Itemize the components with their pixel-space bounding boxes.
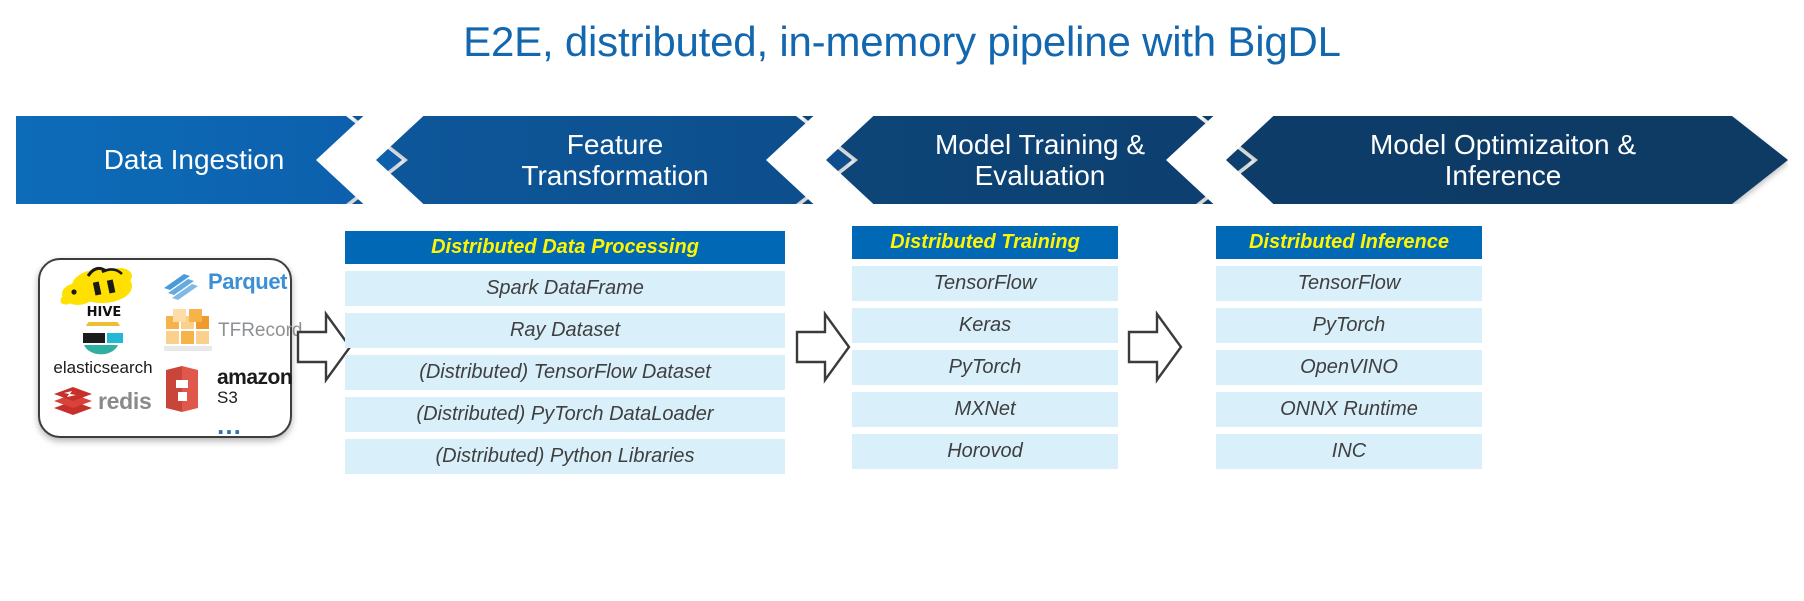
tfrecord-logo-label: TFRecord xyxy=(218,320,302,342)
hive-logo-label: HIVE xyxy=(87,305,122,320)
elasticsearch-logo-label: elasticsearch xyxy=(48,358,158,378)
parquet-logo: Parquet xyxy=(160,268,286,302)
stack-row[interactable]: (Distributed) Python Libraries xyxy=(345,439,785,474)
stack-row[interactable]: TensorFlow xyxy=(852,266,1118,301)
stack-row[interactable]: ONNX Runtime xyxy=(1216,392,1482,427)
amazon-s3-logo: amazon S3 xyxy=(160,364,290,416)
hive-logo: HIVE xyxy=(58,264,150,320)
pipeline-banner: Data Ingestion Feature Transformation Mo… xyxy=(16,116,1788,204)
amazon-s3-logo-sublabel: S3 xyxy=(217,388,238,408)
pipeline-stage-data-ingestion[interactable]: Data Ingestion xyxy=(16,116,372,204)
page-title: E2E, distributed, in-memory pipeline wit… xyxy=(0,18,1804,66)
redis-logo-label: redis xyxy=(98,388,151,415)
parquet-logo-label: Parquet xyxy=(208,269,287,295)
redis-logo: redis xyxy=(52,384,158,422)
stack-row[interactable]: (Distributed) PyTorch DataLoader xyxy=(345,397,785,432)
stack-header: Distributed Data Processing xyxy=(345,231,785,264)
amazon-s3-logo-label: amazon xyxy=(217,366,292,390)
stack-row[interactable]: Horovod xyxy=(852,434,1118,469)
stack-header: Distributed Inference xyxy=(1216,226,1482,259)
stack-row[interactable]: MXNet xyxy=(852,392,1118,427)
stage-label: Data Ingestion xyxy=(104,144,285,175)
stack-distributed-training: Distributed Training TensorFlow Keras Py… xyxy=(852,226,1118,469)
stage-label: Model Training & Evaluation xyxy=(935,129,1145,192)
stack-row[interactable]: PyTorch xyxy=(1216,308,1482,343)
pipeline-stage-model-optimization-inference[interactable]: Model Optimizaiton & Inference xyxy=(1258,116,1748,204)
stack-row[interactable]: INC xyxy=(1216,434,1482,469)
stack-row[interactable]: TensorFlow xyxy=(1216,266,1482,301)
stack-distributed-data-processing: Distributed Data Processing Spark DataFr… xyxy=(345,231,785,474)
stage-label: Feature Transformation xyxy=(521,129,708,192)
pipeline-stage-feature-transformation[interactable]: Feature Transformation xyxy=(408,116,822,204)
arrow-training-to-inference xyxy=(1127,310,1183,384)
source-ellipsis: … xyxy=(216,420,244,430)
stage-label: Model Optimizaiton & Inference xyxy=(1370,129,1636,192)
stack-row[interactable]: OpenVINO xyxy=(1216,350,1482,385)
elasticsearch-logo: elasticsearch xyxy=(48,322,158,380)
stack-row[interactable]: Keras xyxy=(852,308,1118,343)
stack-row[interactable]: PyTorch xyxy=(852,350,1118,385)
pipeline-stage-model-training-evaluation[interactable]: Model Training & Evaluation xyxy=(858,116,1222,204)
arrow-ingestion-to-feature xyxy=(296,310,352,384)
tfrecord-logo: TFRecord xyxy=(160,308,290,356)
arrow-feature-to-training xyxy=(795,310,851,384)
stack-distributed-inference: Distributed Inference TensorFlow PyTorch… xyxy=(1216,226,1482,469)
stack-row[interactable]: Ray Dataset xyxy=(345,313,785,348)
stack-row[interactable]: (Distributed) TensorFlow Dataset xyxy=(345,355,785,390)
data-source-card: HIVE Parquet xyxy=(38,258,292,438)
stack-header: Distributed Training xyxy=(852,226,1118,259)
stack-row[interactable]: Spark DataFrame xyxy=(345,271,785,306)
